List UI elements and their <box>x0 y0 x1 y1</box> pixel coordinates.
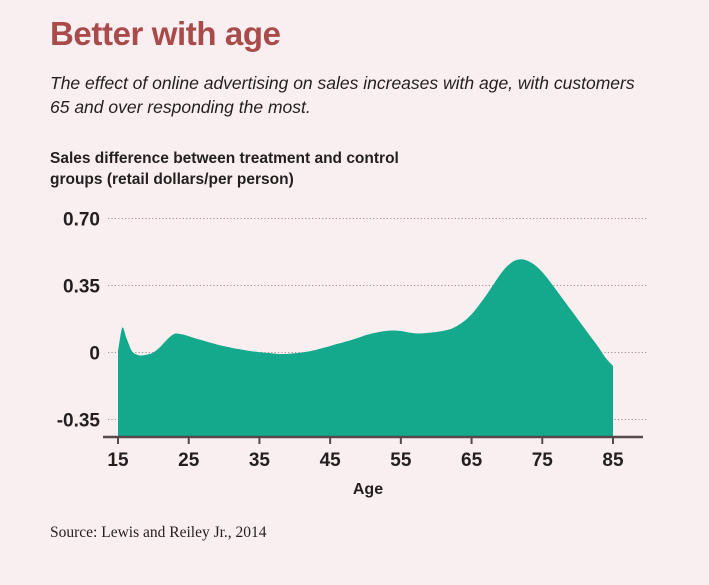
x-axis-tick-labels: 1525354555657585 <box>107 450 624 471</box>
x-tick-label-85: 85 <box>602 450 624 471</box>
y-tick-label-0: 0 <box>89 344 100 365</box>
y-tick-label-0.35: 0.35 <box>63 277 100 298</box>
x-tick-label-25: 25 <box>178 450 200 471</box>
x-axis <box>103 437 643 444</box>
series-area-group <box>118 259 613 437</box>
source-note: Source: Lewis and Reiley Jr., 2014 <box>50 524 267 542</box>
y-tick-label--0.35: -0.35 <box>57 411 101 432</box>
x-tick-label-75: 75 <box>532 450 554 471</box>
chart-figure: Better with age The effect of online adv… <box>0 0 709 585</box>
x-tick-label-65: 65 <box>461 450 483 471</box>
area-chart-svg: 0.700.350-0.35 1525354555657585 Age <box>0 0 709 585</box>
x-axis-title: Age <box>353 481 383 498</box>
series-area-sales-difference <box>118 259 613 437</box>
y-tick-label-0.70: 0.70 <box>63 210 100 231</box>
plot-area: 0.700.350-0.35 1525354555657585 Age <box>0 0 709 585</box>
x-tick-label-45: 45 <box>320 450 342 471</box>
y-axis-tick-labels: 0.700.350-0.35 <box>57 210 101 432</box>
x-tick-label-15: 15 <box>107 450 129 471</box>
x-tick-label-55: 55 <box>390 450 412 471</box>
x-tick-label-35: 35 <box>249 450 271 471</box>
